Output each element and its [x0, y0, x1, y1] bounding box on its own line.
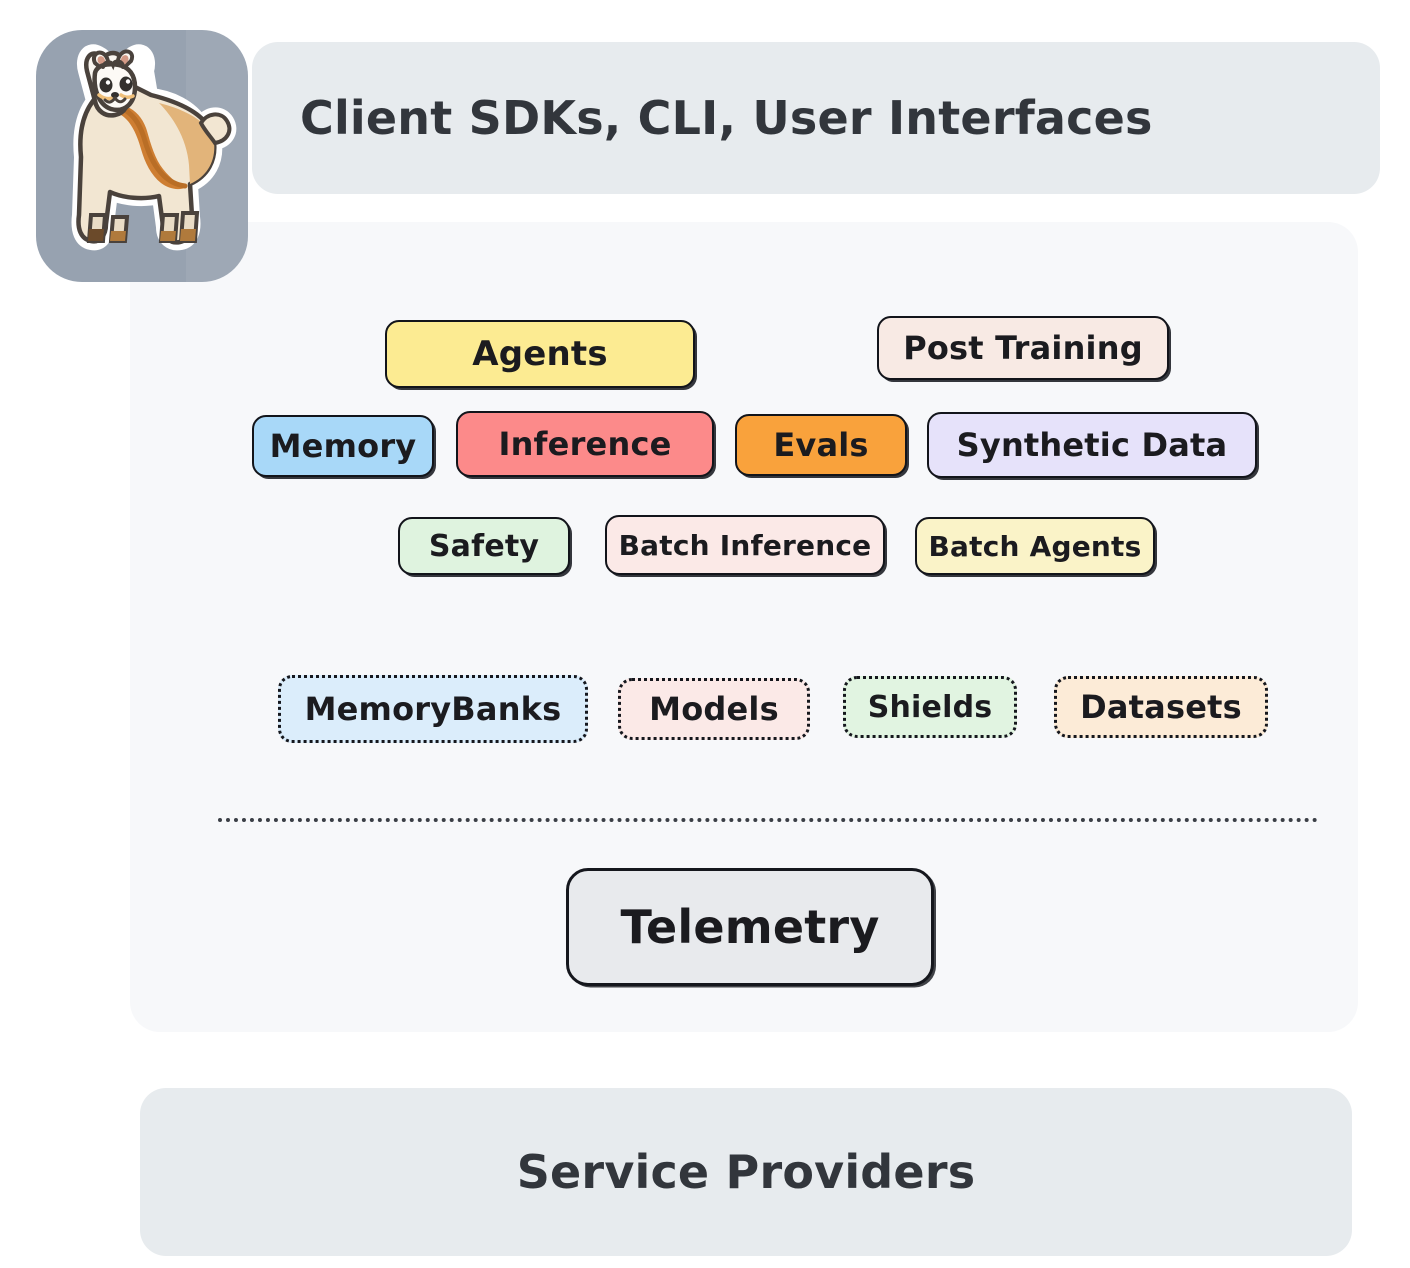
api-box-label: Synthetic Data — [957, 426, 1228, 464]
resource-box-models[interactable]: Models — [618, 678, 810, 740]
resource-box-label: Shields — [868, 690, 993, 725]
api-box-label: Inference — [498, 425, 671, 463]
telemetry-box[interactable]: Telemetry — [566, 868, 934, 986]
resource-box-shields[interactable]: Shields — [843, 676, 1017, 738]
api-box-label: Safety — [429, 529, 539, 564]
llama-icon — [47, 41, 237, 271]
api-box-inference[interactable]: Inference — [456, 411, 714, 477]
diagram-canvas: Client SDKs, CLI, User Interfaces — [0, 0, 1410, 1268]
service-providers-bar: Service Providers — [140, 1088, 1352, 1256]
api-box-evals[interactable]: Evals — [735, 414, 907, 476]
resource-box-memorybanks[interactable]: MemoryBanks — [278, 675, 588, 743]
telemetry-label: Telemetry — [620, 900, 879, 954]
api-box-synthetic-data[interactable]: Synthetic Data — [927, 412, 1257, 478]
api-box-label: Post Training — [903, 329, 1143, 367]
api-box-safety[interactable]: Safety — [398, 517, 570, 575]
api-box-batch-inference[interactable]: Batch Inference — [605, 515, 885, 575]
resource-box-label: MemoryBanks — [305, 690, 562, 728]
client-sdk-bar: Client SDKs, CLI, User Interfaces — [252, 42, 1380, 194]
api-box-batch-agents[interactable]: Batch Agents — [915, 517, 1155, 575]
api-box-label: Evals — [773, 426, 868, 464]
resource-box-datasets[interactable]: Datasets — [1054, 676, 1268, 738]
service-providers-label: Service Providers — [517, 1145, 976, 1199]
llama-logo — [36, 30, 248, 282]
api-box-agents[interactable]: Agents — [385, 320, 695, 388]
resource-box-label: Datasets — [1080, 688, 1242, 726]
dotted-divider — [218, 818, 1318, 822]
api-box-label: Batch Agents — [929, 530, 1142, 563]
api-box-label: Memory — [270, 427, 417, 465]
api-box-label: Batch Inference — [619, 529, 872, 562]
api-box-label: Agents — [472, 334, 608, 374]
resource-box-label: Models — [649, 690, 779, 728]
api-box-post-training[interactable]: Post Training — [877, 316, 1169, 380]
client-sdk-label: Client SDKs, CLI, User Interfaces — [300, 91, 1153, 145]
api-box-memory[interactable]: Memory — [252, 415, 434, 477]
